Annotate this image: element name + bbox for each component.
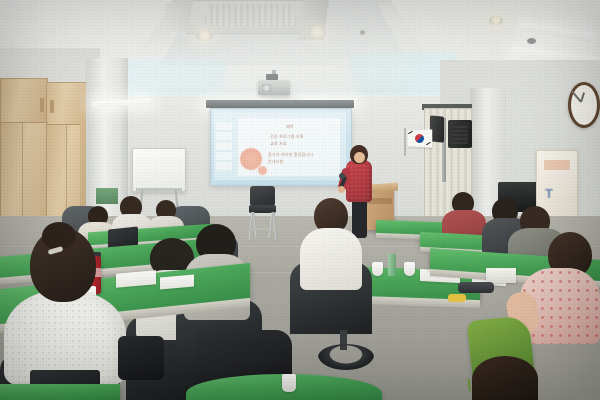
slide-line-1: 건강 프로그램 기획	[270, 134, 304, 140]
whiteboard	[132, 148, 186, 192]
slide-thumbnail-panel	[216, 122, 232, 172]
presenter-face	[354, 152, 365, 163]
paper-cup	[282, 374, 296, 392]
cabinet-handle	[40, 98, 44, 112]
downlight-icon	[196, 30, 213, 41]
poster-text: T	[545, 186, 569, 202]
wall-clock-icon	[568, 82, 600, 128]
slide-line-2: 교육 자료	[270, 141, 287, 147]
folding-chair-back	[250, 186, 275, 206]
projector-lens	[262, 84, 271, 92]
attendee-body	[300, 228, 362, 290]
slide-accent-dot	[258, 166, 267, 175]
speaker-grille	[452, 124, 468, 144]
cabinet-handle	[50, 100, 54, 113]
tissue-box	[486, 268, 516, 283]
downlight-icon	[308, 26, 326, 38]
microphone-head	[339, 173, 345, 179]
poster-accent	[544, 160, 570, 170]
slide-line-4: 안내사항	[268, 159, 284, 165]
screen-housing	[206, 100, 354, 108]
black-bag	[118, 336, 164, 380]
presenter-legs	[352, 196, 367, 238]
paper-cup	[404, 262, 415, 276]
ac-grille	[204, 4, 296, 26]
paper-cup	[372, 262, 383, 276]
conference-table	[0, 384, 120, 400]
flag-taeguk-symbol	[415, 134, 424, 143]
seminar-room-photo: 제목 건강 프로그램 기획 교육 자료 참가자 여러분 환영합니다 안내사항 T	[0, 0, 600, 400]
green-bottle	[388, 254, 396, 276]
folding-chair-brace	[250, 228, 276, 230]
attendee-head	[472, 356, 538, 400]
sprinkler-icon	[360, 30, 365, 35]
slide-line-3: 참가자 여러분 환영합니다	[268, 152, 313, 158]
presenter-hand	[338, 186, 345, 193]
flag-pole	[404, 128, 406, 156]
pencil-case	[458, 282, 494, 293]
chair-base	[318, 344, 374, 370]
smoke-detector-icon	[527, 38, 536, 44]
green-board	[96, 188, 118, 204]
downlight-icon	[489, 16, 503, 25]
yellow-item	[448, 294, 466, 302]
presenter-top-pattern	[346, 160, 372, 202]
slide-title: 제목	[286, 124, 294, 130]
